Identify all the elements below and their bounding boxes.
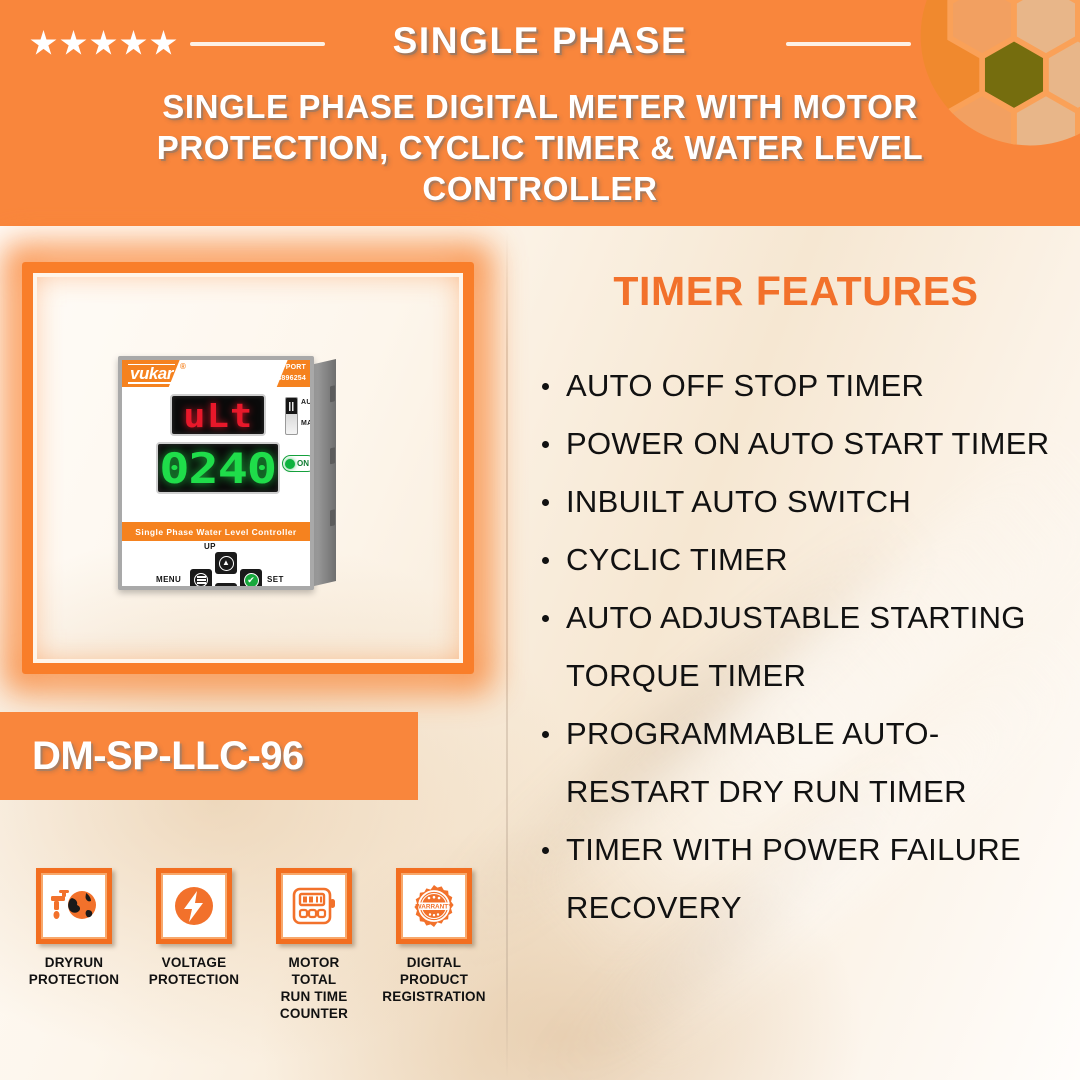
panel-divider xyxy=(506,232,508,1080)
header-headline: SINGLE PHASE DIGITAL METER WITH MOTOR PR… xyxy=(70,86,1010,209)
switch-label-auto: AUTO xyxy=(301,399,314,406)
svg-text:WARRANTY: WARRANTY xyxy=(416,904,454,911)
icon-inner-frame xyxy=(41,873,107,939)
technical-support-info: TECHNICAL SUPPORT +91 - 6358896254 xyxy=(227,362,307,384)
hamburger-menu-icon xyxy=(194,573,208,587)
device-side-tab xyxy=(330,385,335,402)
icon-caption: DIGITAL PRODUCT REGISTRATION xyxy=(382,954,485,1005)
status-led-icon xyxy=(285,459,295,469)
switch-label-manual: MANUAL xyxy=(301,420,314,427)
model-number-badge: DM-SP-LLC-96 xyxy=(0,712,418,800)
list-item: INBUILT AUTO SWITCH xyxy=(542,473,1072,531)
status-badge: ON xyxy=(282,455,314,472)
device-side-tab xyxy=(330,447,335,464)
list-item: AUTO OFF STOP TIMER xyxy=(542,357,1072,415)
list-item: PROGRAMMABLE AUTO-RESTART DRY RUN TIMER xyxy=(542,705,1072,821)
feature-list: AUTO OFF STOP TIMER POWER ON AUTO START … xyxy=(520,357,1072,937)
list-item: AUTO ADJUSTABLE STARTING TORQUE TIMER xyxy=(542,589,1072,705)
check-icon: ✔ xyxy=(244,573,259,588)
feature-icon-voltage-protection: VOLTAGE PROTECTION xyxy=(134,868,254,1022)
auto-manual-switch[interactable] xyxy=(285,397,298,435)
set-button[interactable]: ✔ xyxy=(240,569,262,590)
feature-icon-dryrun-protection: DRYRUN PROTECTION xyxy=(14,868,134,1022)
lightning-bolt-icon xyxy=(170,882,218,930)
icon-caption: DRYRUN PROTECTION xyxy=(29,954,120,988)
status-label: ON xyxy=(297,459,309,468)
icon-inner-frame xyxy=(281,873,347,939)
support-phone: +91 - 6358896254 xyxy=(227,373,307,384)
model-number: DM-SP-LLC-96 xyxy=(32,734,304,779)
key-label-up: UP xyxy=(204,542,216,551)
icon-inner-frame xyxy=(161,873,227,939)
icon-frame xyxy=(156,868,232,944)
secondary-display-value: 0240 xyxy=(160,444,277,493)
list-item: POWER ON AUTO START TIMER xyxy=(542,415,1072,473)
feature-icon-run-time-counter: MOTOR TOTAL RUN TIME COUNTER xyxy=(254,868,374,1022)
device-keypad: MENU UP DOWN SET ▲ ▼ ✔ xyxy=(122,541,310,590)
run-time-counter-icon xyxy=(289,882,339,930)
device-side-tab xyxy=(330,509,335,526)
menu-button[interactable] xyxy=(190,569,212,590)
warranty-seal-icon: WARRANTY xyxy=(409,882,459,930)
header-kicker: SINGLE PHASE xyxy=(0,20,1080,62)
icon-inner-frame: WARRANTY xyxy=(401,873,467,939)
feature-icon-product-registration: WARRANTY DIGITAL PRODUCT REGISTRATION xyxy=(374,868,494,1022)
faucet-globe-icon xyxy=(48,882,100,930)
product-device: vukar ® TECHNICAL SUPPORT +91 - 63588962… xyxy=(118,356,330,596)
chevron-down-icon: ▼ xyxy=(219,587,234,591)
key-label-set: SET xyxy=(267,575,284,584)
primary-display-value: uLt xyxy=(183,396,253,435)
registered-trademark-icon: ® xyxy=(180,362,186,371)
chevron-up-icon: ▲ xyxy=(219,556,234,571)
list-item: TIMER WITH POWER FAILURE RECOVERY xyxy=(542,821,1072,937)
support-label: TECHNICAL SUPPORT xyxy=(227,362,307,373)
down-button[interactable]: ▼ xyxy=(215,583,237,590)
header-banner: SINGLE PHASE SINGLE PHASE DIGITAL METER … xyxy=(0,0,1080,226)
device-front-panel: vukar ® TECHNICAL SUPPORT +91 - 63588962… xyxy=(118,356,314,590)
icon-frame: WARRANTY xyxy=(396,868,472,944)
up-button[interactable]: ▲ xyxy=(215,552,237,574)
section-title: TIMER FEATURES xyxy=(520,268,1072,315)
vukar-logo: vukar xyxy=(128,364,175,384)
secondary-display: 0240 xyxy=(156,442,280,494)
timer-features-section: TIMER FEATURES AUTO OFF STOP TIMER POWER… xyxy=(520,268,1072,937)
icon-caption: VOLTAGE PROTECTION xyxy=(149,954,240,988)
list-item: CYCLIC TIMER xyxy=(542,531,1072,589)
primary-display: uLt xyxy=(170,394,266,436)
device-caption-strip: Single Phase Water Level Controller xyxy=(122,522,310,541)
product-poster: SINGLE PHASE SINGLE PHASE DIGITAL METER … xyxy=(0,0,1080,1080)
device-display-area: uLt 0240 AUTO MANUAL ON xyxy=(122,387,310,522)
icon-caption: MOTOR TOTAL RUN TIME COUNTER xyxy=(280,954,348,1022)
device-brand-bar: vukar ® TECHNICAL SUPPORT +91 - 63588962… xyxy=(122,360,310,387)
key-label-menu: MENU xyxy=(156,575,181,584)
icon-frame xyxy=(276,868,352,944)
feature-icon-row: DRYRUN PROTECTION VOLTAGE PROTECTION xyxy=(14,868,494,1022)
icon-frame xyxy=(36,868,112,944)
